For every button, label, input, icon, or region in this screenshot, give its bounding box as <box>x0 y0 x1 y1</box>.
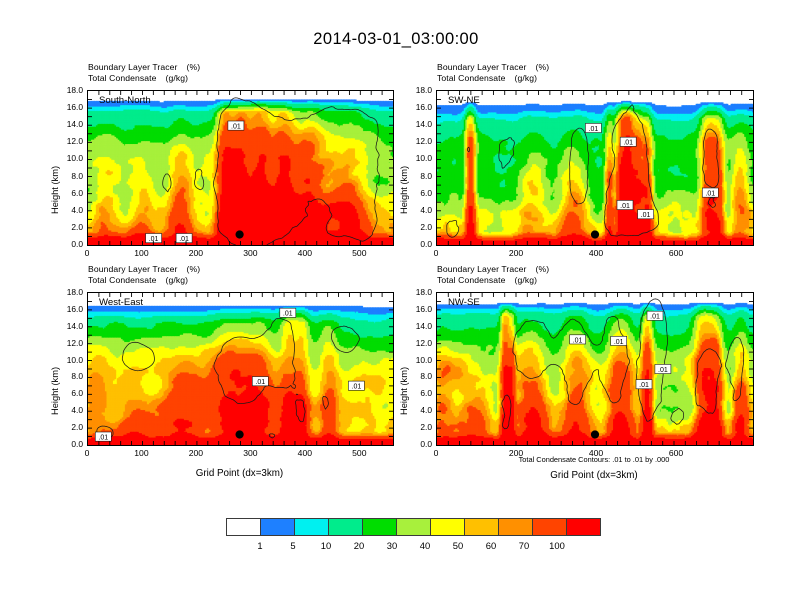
colorbar-swatch-white[interactable] <box>227 519 260 535</box>
colorbar-swatch-spring-green[interactable] <box>328 519 362 535</box>
colorbar-swatch-blue[interactable] <box>260 519 294 535</box>
colorbar-swatch-red[interactable] <box>566 519 600 535</box>
colorbar-swatch-yellow-green[interactable] <box>396 519 430 535</box>
colorbar-swatch-orange[interactable] <box>498 519 532 535</box>
colorbar-strip[interactable] <box>226 518 601 536</box>
colorbar-swatch-gold[interactable] <box>464 519 498 535</box>
colorbar-tick-label: 100 <box>537 540 577 551</box>
colorbar-swatch-orange-red[interactable] <box>532 519 566 535</box>
colorbar-swatch-green[interactable] <box>362 519 396 535</box>
colorbar-swatch-yellow[interactable] <box>430 519 464 535</box>
colorbar-swatch-cyan[interactable] <box>294 519 328 535</box>
colorbar-legend: 1510203040506070100 <box>0 0 792 612</box>
figure-canvas: 2014-03-01_03:00:00 Boundary Layer Trace… <box>0 0 792 612</box>
